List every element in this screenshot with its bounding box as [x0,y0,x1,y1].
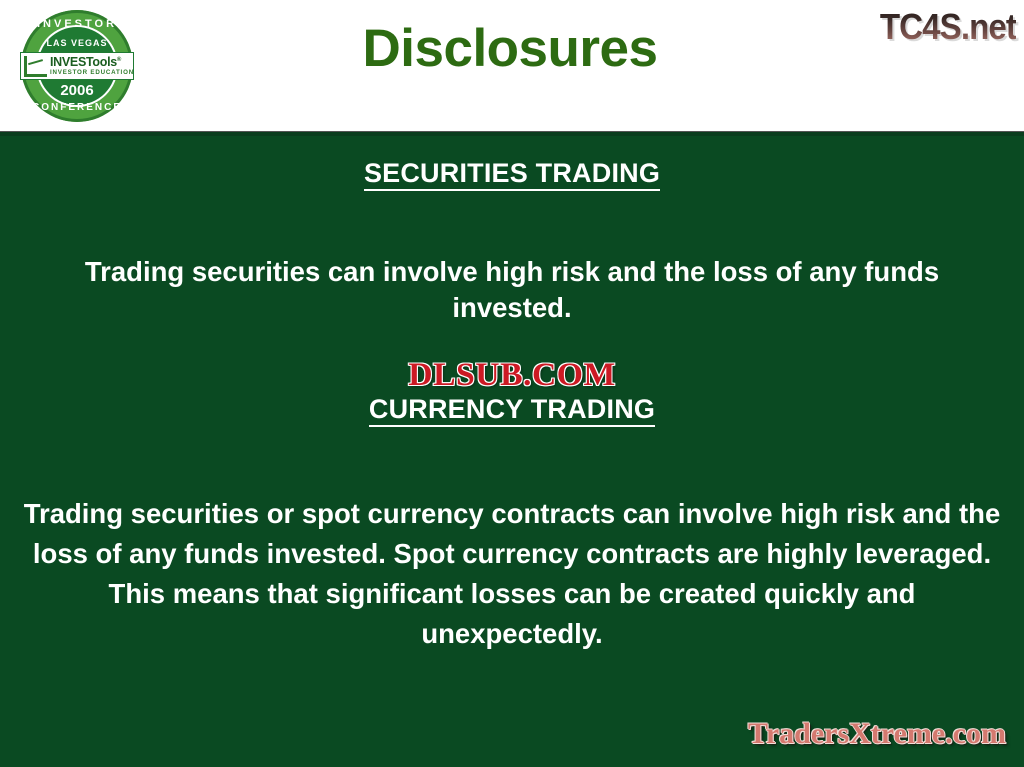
section-heading-securities-trading: SECURITIES TRADING [0,158,1024,189]
paragraph-currency-trading: Trading securities or spot currency cont… [20,494,1004,655]
badge-year-label: 2006 [14,82,140,99]
section-heading-currency-trading-text: CURRENCY TRADING [369,394,655,427]
badge-brand-name: INVESTools® [50,56,134,69]
registered-trademark-icon: ® [117,57,121,63]
page-title: Disclosures [150,22,870,75]
section-heading-currency-trading: CURRENCY TRADING [0,394,1024,425]
badge-brand-name-text: INVESTools [50,55,117,69]
badge-brand-text-group: INVESTools® INVESTOR EDUCATION [50,56,134,76]
badge-city-label: LAS VEGAS [14,38,140,48]
watermark-tradersxtreme: TradersXtreme.com [748,717,1006,751]
watermark-dlsub: DLSUB.COM [0,357,1024,394]
badge-tagline: INVESTOR EDUCATION [50,70,134,76]
investools-conference-badge-logo: INVESTOR LAS VEGAS INVESTools® INVESTOR … [14,4,140,128]
chart-icon [24,56,47,77]
badge-arc-top-label: INVESTOR [14,18,140,30]
slide-body: SECURITIES TRADING Trading securities ca… [0,136,1024,767]
badge-brand-plate: INVESTools® INVESTOR EDUCATION [20,52,134,80]
paragraph-securities-trading: Trading securities can involve high risk… [32,254,992,326]
badge-arc-bottom-label: CONFERENCE [14,102,140,113]
section-heading-securities-trading-text: SECURITIES TRADING [364,158,660,191]
slide-root: INVESTOR LAS VEGAS INVESTools® INVESTOR … [0,0,1024,767]
site-logo-tc4s: TC4S.net [880,6,1016,48]
slide-header: INVESTOR LAS VEGAS INVESTools® INVESTOR … [0,0,1024,132]
